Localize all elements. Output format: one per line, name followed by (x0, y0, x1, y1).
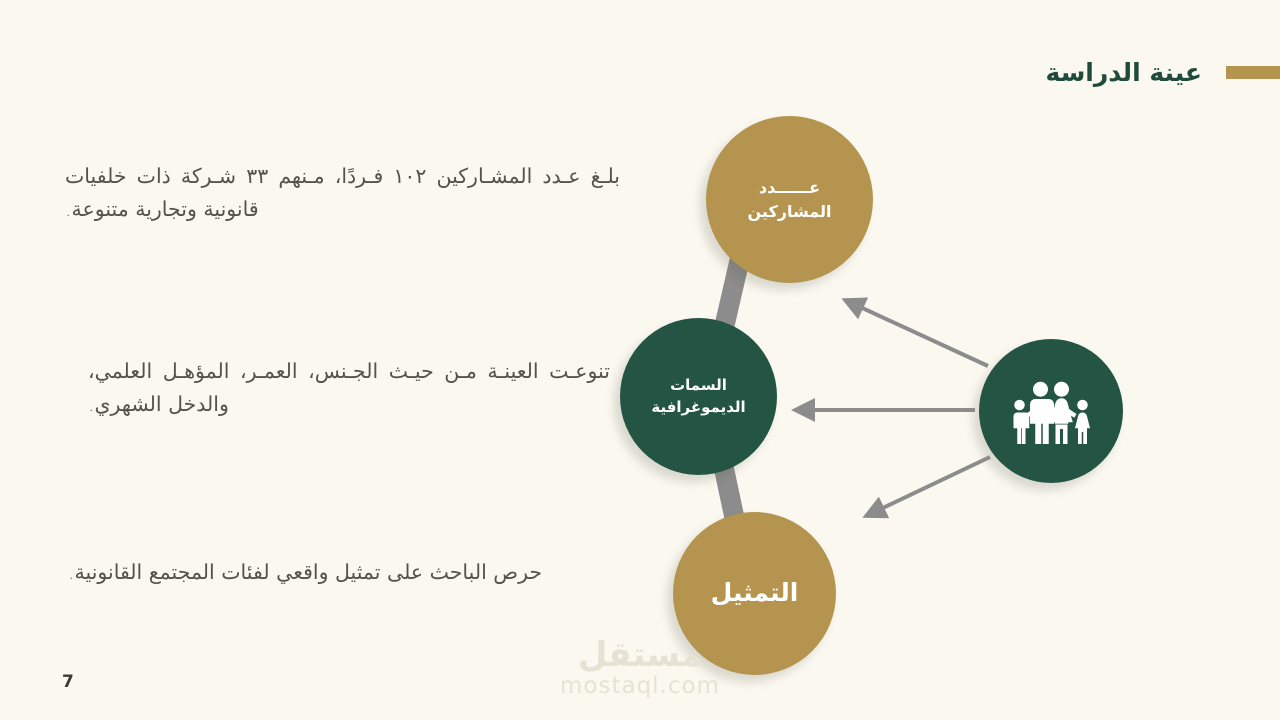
watermark-arabic: مستقل (545, 638, 735, 672)
page-number: 7 (62, 672, 74, 692)
node-source[interactable] (979, 339, 1123, 483)
node-demographics-label: السمات الديموغرافية (651, 375, 745, 419)
family-group-icon (1003, 374, 1099, 448)
node-representation-label: التمثيل (711, 575, 799, 611)
diagram: عــــــدد المشاركين السمات الديموغرافية … (0, 0, 1280, 720)
node-participants-line2: المشاركين (748, 200, 832, 223)
node-participants[interactable]: عــــــدد المشاركين (706, 116, 873, 283)
node-participants-line1: عــــــدد (748, 176, 832, 199)
watermark-latin: mostaql.com (545, 672, 735, 701)
arrow-source-to-participants (845, 300, 988, 366)
node-demographics[interactable]: السمات الديموغرافية (620, 318, 777, 475)
node-demographics-line1: السمات (651, 375, 745, 397)
watermark: مستقل mostaql.com (545, 638, 735, 701)
node-demographics-line2: الديموغرافية (651, 397, 745, 419)
arrow-source-to-representation (866, 457, 990, 516)
node-participants-label: عــــــدد المشاركين (748, 176, 832, 222)
slide: عينة الدراسة بلـغ عـدد المشـاركين ١٠٢ فـ… (0, 0, 1280, 720)
